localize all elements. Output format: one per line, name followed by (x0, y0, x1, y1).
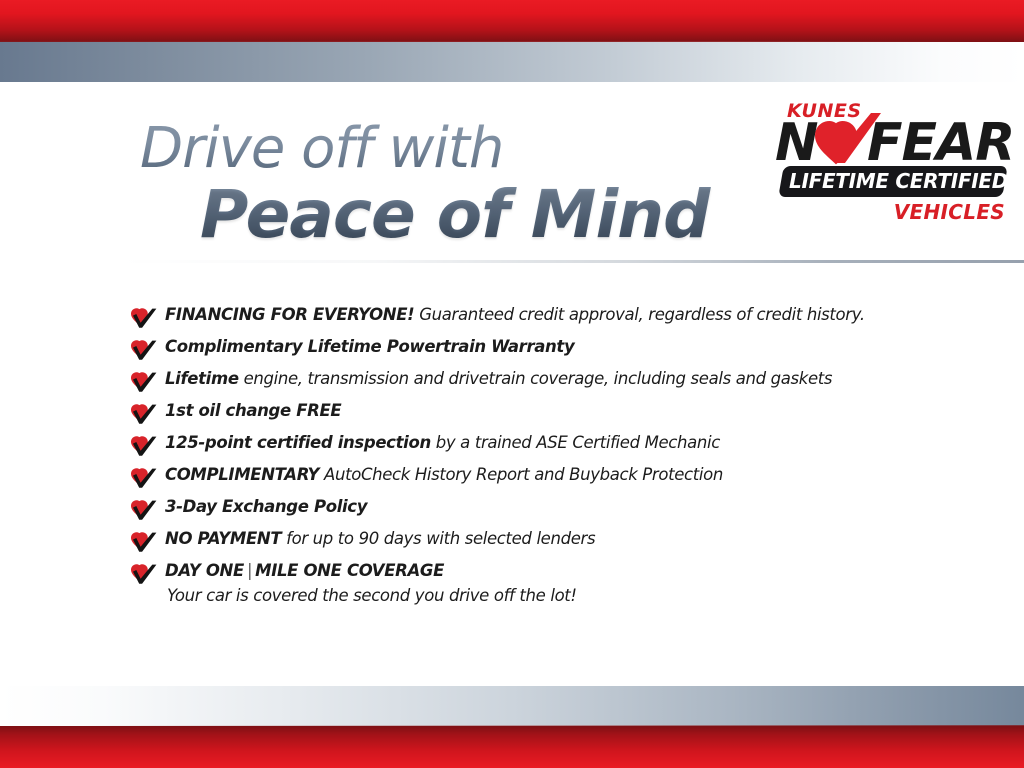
benefit-subtext: Your car is covered the second you drive… (167, 585, 970, 607)
heart-check-bullet-icon (130, 339, 157, 361)
heart-check-bullet-icon (130, 531, 157, 553)
benefit-detail: Guaranteed credit approval, regardless o… (414, 305, 864, 324)
heart-check-bullet-icon (130, 371, 157, 393)
benefit-headline: 3-Day Exchange Policy (165, 497, 367, 516)
benefit-headline: COMPLIMENTARY (165, 465, 319, 484)
benefit-text: FINANCING FOR EVERYONE! Guaranteed credi… (165, 304, 970, 326)
benefit-headline: FINANCING FOR EVERYONE! (165, 305, 414, 324)
heart-check-bullet-icon (130, 403, 157, 425)
benefit-item: DAY ONE|MILE ONE COVERAGEYour car is cov… (130, 560, 970, 618)
benefit-headline: 1st oil change FREE (165, 401, 341, 420)
benefit-text: 3-Day Exchange Policy (165, 496, 970, 518)
top-gray-gradient-band (0, 42, 1024, 82)
benefit-item: FINANCING FOR EVERYONE! Guaranteed credi… (130, 304, 970, 336)
benefit-detail: AutoCheck History Report and Buyback Pro… (319, 465, 723, 484)
kunes-no-fear-logo: KUNES N FEAR LIFETIME CERTIFIED VEHICLES (775, 100, 1013, 235)
benefit-item: 3-Day Exchange Policy (130, 496, 970, 528)
benefit-item: Lifetime engine, transmission and drivet… (130, 368, 970, 400)
heart-check-bullet-icon (130, 467, 157, 489)
benefit-text: Lifetime engine, transmission and drivet… (165, 368, 970, 390)
heart-check-bullet-icon (130, 307, 157, 329)
benefit-headline: NO PAYMENT (165, 529, 281, 548)
benefit-headline: 125-point certified inspection (165, 433, 431, 452)
bottom-gray-gradient-band (0, 686, 1024, 726)
headline-line-1: Drive off with (140, 122, 738, 177)
heart-check-bullet-icon (130, 435, 157, 457)
heart-check-bullet-icon (130, 531, 157, 553)
content-stage: Drive off with Peace of Mind KUNES N FEA… (0, 82, 1024, 686)
benefit-text: NO PAYMENT for up to 90 days with select… (165, 528, 970, 550)
heart-check-bullet-icon (130, 339, 157, 361)
logo-vehicles-text: VEHICLES (775, 200, 1005, 224)
benefit-detail: by a trained ASE Certified Mechanic (431, 433, 720, 452)
heart-check-bullet-icon (130, 403, 157, 425)
heart-check-bullet-icon (130, 499, 157, 521)
benefit-item: COMPLIMENTARY AutoCheck History Report a… (130, 464, 970, 496)
benefit-headline: DAY ONE (165, 561, 244, 580)
logo-certified-text: LIFETIME CERTIFIED (789, 168, 1005, 195)
benefit-headline: Complimentary Lifetime Powertrain Warran… (165, 337, 574, 356)
heart-check-bullet-icon (130, 307, 157, 329)
benefit-text: COMPLIMENTARY AutoCheck History Report a… (165, 464, 970, 486)
top-red-band (0, 0, 1024, 42)
logo-nofear-wordmark: N FEAR (775, 117, 1013, 171)
benefit-text: 1st oil change FREE (165, 400, 970, 422)
benefit-headline: Lifetime (165, 369, 239, 388)
benefit-detail: for up to 90 days with selected lenders (281, 529, 595, 548)
benefit-text: DAY ONE|MILE ONE COVERAGE (165, 560, 970, 582)
heart-check-bullet-icon (130, 499, 157, 521)
benefit-item: 125-point certified inspection by a trai… (130, 432, 970, 464)
benefit-text: 125-point certified inspection by a trai… (165, 432, 970, 454)
benefit-detail: engine, transmission and drivetrain cove… (239, 369, 832, 388)
benefit-item: Complimentary Lifetime Powertrain Warran… (130, 336, 970, 368)
benefit-item: 1st oil change FREE (130, 400, 970, 432)
benefit-separator: | (244, 561, 255, 580)
headline-block: Drive off with Peace of Mind (138, 122, 738, 248)
benefit-item: NO PAYMENT for up to 90 days with select… (130, 528, 970, 560)
heart-check-bullet-icon (130, 563, 157, 585)
benefits-list: FINANCING FOR EVERYONE! Guaranteed credi… (130, 304, 970, 618)
benefit-text: Complimentary Lifetime Powertrain Warran… (165, 336, 970, 358)
logo-word-fear: FEAR (867, 117, 1014, 169)
headline-line-2: Peace of Mind (200, 183, 738, 248)
heart-check-bullet-icon (130, 467, 157, 489)
benefit-headline-2: MILE ONE COVERAGE (255, 561, 444, 580)
heart-check-bullet-icon (130, 371, 157, 393)
heart-check-bullet-icon (130, 563, 157, 585)
heart-check-bullet-icon (130, 435, 157, 457)
header-divider (120, 260, 1024, 263)
bottom-red-band (0, 726, 1024, 768)
